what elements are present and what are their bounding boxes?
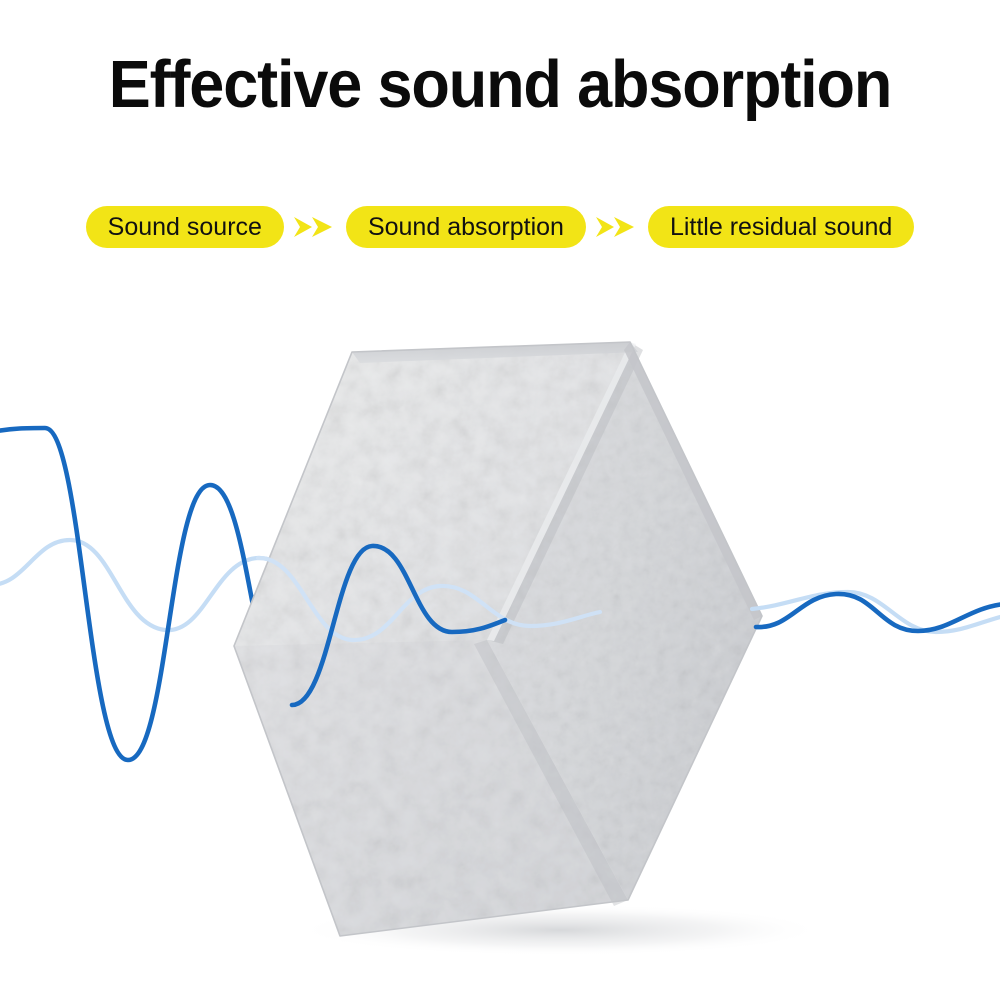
acoustic-panel-illustration — [0, 0, 1000, 1000]
badge-little-residual-sound-label: Little residual sound — [670, 206, 892, 248]
badge-sound-source-label: Sound source — [108, 206, 262, 248]
double-chevron-right-icon-1 — [284, 206, 346, 248]
badge-sound-source[interactable]: Sound source — [86, 206, 284, 248]
process-flow: Sound source Sound absorption Little res… — [0, 203, 1000, 251]
badge-little-residual-sound[interactable]: Little residual sound — [648, 206, 914, 248]
page-title: Effective sound absorption — [30, 46, 970, 124]
double-chevron-right-icon-2 — [586, 206, 648, 248]
badge-sound-absorption[interactable]: Sound absorption — [346, 206, 586, 248]
badge-sound-absorption-label: Sound absorption — [368, 206, 564, 248]
product-feature-banner: Effective sound absorption Sound source … — [0, 0, 1000, 1000]
